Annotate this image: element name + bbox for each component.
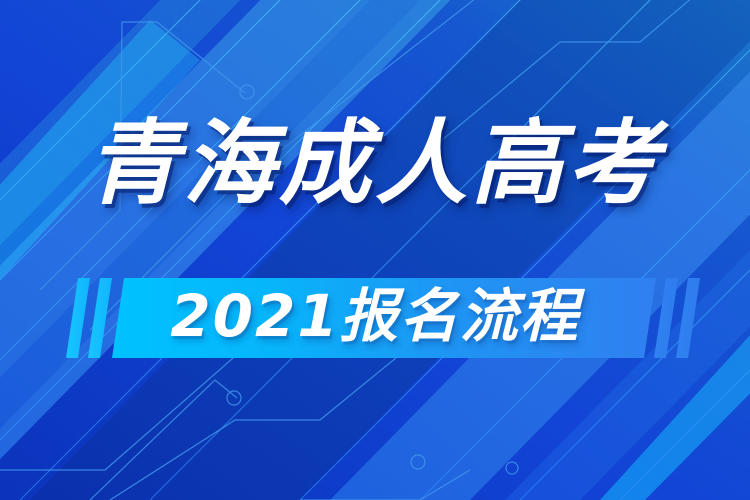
subtitle-banner-artwork: [0, 262, 750, 372]
poster-root: 青海成人高考: [0, 0, 750, 500]
right-accent-slash: [654, 278, 678, 358]
right-accent-slash: [676, 278, 700, 358]
subtitle-banner: [0, 262, 750, 372]
left-accent-slash: [88, 278, 112, 358]
background-artwork: [0, 0, 750, 500]
left-accent-slash: [66, 278, 90, 358]
subtitle-band-shape: [112, 278, 656, 358]
